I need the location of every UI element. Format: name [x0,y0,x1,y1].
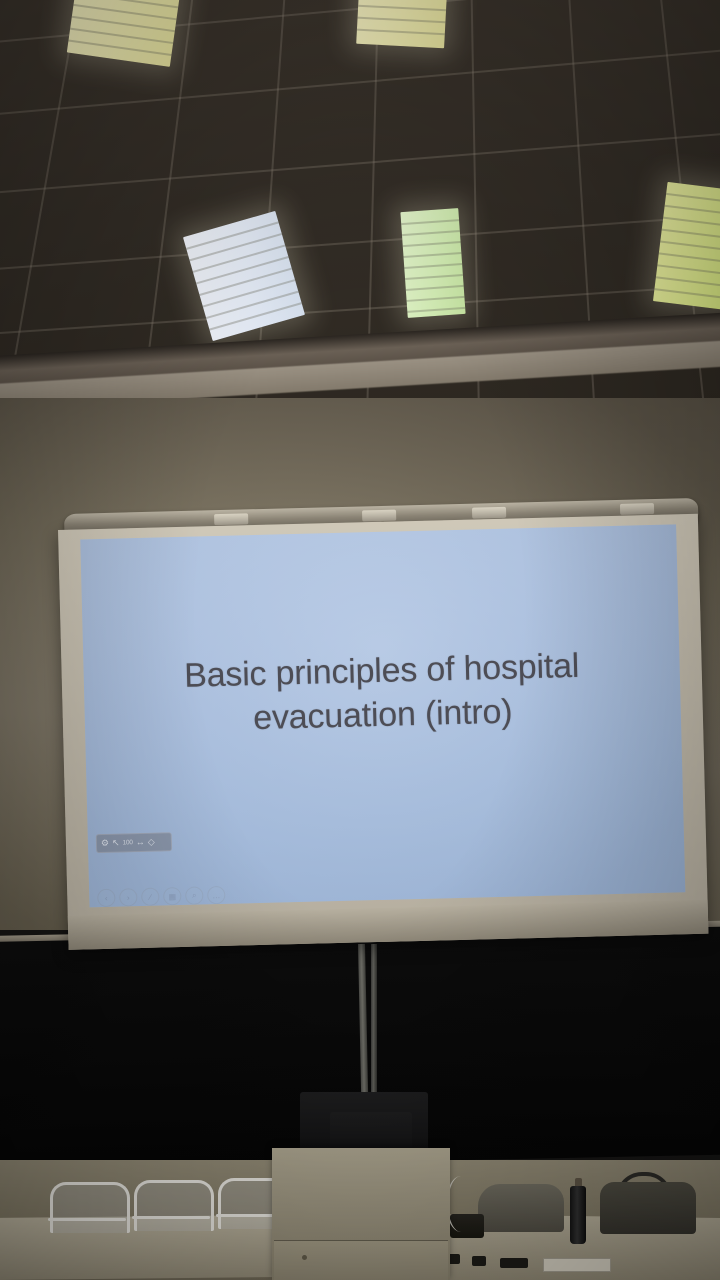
zoom-level-label: 100 [122,839,132,846]
screen-support-pole [371,944,377,1112]
pen-tool-button[interactable]: ∕ [141,888,159,906]
screen-bottom-bar [68,900,709,950]
slide-title-line-1: Basic principles of hospital [184,647,580,695]
ceiling-light-warm-center [356,0,448,48]
projector-screen-frame: Basic principles of hospitalevacuation (… [58,514,708,950]
fit-width-icon[interactable]: ↔ [136,838,145,847]
more-options-button[interactable]: … [207,886,225,904]
roller-bracket [620,503,654,515]
roller-bracket [214,513,248,525]
lectern-drawer [274,1240,448,1280]
backpack-left [478,1184,564,1232]
projected-slide: Basic principles of hospitalevacuation (… [80,524,685,907]
slide-title-line-2: evacuation (intro) [253,692,513,737]
shape-diamond-icon[interactable]: ◇ [148,838,155,847]
small-device [472,1256,486,1266]
wire-chair-basket-1 [50,1182,130,1233]
lectern-knob [302,1255,307,1260]
roller-bracket [472,507,506,519]
ceiling-light-white [183,211,305,341]
wire-chair-band [48,1218,126,1221]
wire-chair-basket-2 [134,1180,214,1231]
lecture-hall-photo: Basic principles of hospitalevacuation (… [0,0,720,1280]
next-slide-button[interactable]: › [119,888,137,906]
paper-slip [543,1258,611,1272]
ceiling-light-green [400,208,465,318]
projector-screen-assembly: Basic principles of hospitalevacuation (… [58,508,700,960]
water-bottle [570,1186,586,1244]
ceiling-grid-line [0,209,720,274]
slide-title: Basic principles of hospitalevacuation (… [83,642,681,744]
roller-bracket [362,510,396,522]
small-device [500,1258,528,1268]
duffel-bag-right [600,1182,696,1234]
pointer-settings-icon[interactable]: ⚙ [101,839,109,848]
all-slides-button[interactable]: ▦ [163,887,181,905]
wire-chair-band [132,1216,210,1219]
power-cable [446,1176,476,1232]
ceiling-grid-line [0,127,720,198]
slideshow-control-bar[interactable]: ‹ › ∕ ▦ ⌕ … [97,886,225,907]
cursor-arrow-icon[interactable]: ↖ [112,839,120,848]
previous-slide-button[interactable]: ‹ [97,889,115,907]
presenter-toolbar[interactable]: ⚙ ↖ 100 ↔ ◇ [96,832,172,853]
ceiling-light-yellowgreen [653,182,720,310]
ceiling-light-warm-left [67,0,181,67]
zoom-slide-button[interactable]: ⌕ [185,886,203,904]
lectern [272,1148,450,1280]
